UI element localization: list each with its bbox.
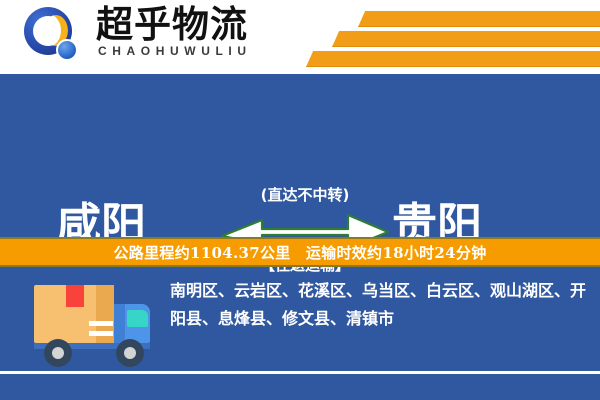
stripe-middle [332, 30, 600, 47]
stripe-top [358, 10, 600, 27]
truck-front-wheel-shape [116, 339, 144, 367]
distance-duration-bar: 公路里程约1104.37公里 运输时效约18小时24分钟 [0, 237, 600, 267]
truck-window-shape [127, 310, 148, 327]
direct-shipping-note: (直达不中转) [210, 184, 400, 205]
company-logo-icon [22, 7, 82, 65]
stripe-bottom [306, 50, 600, 67]
truck-rear-hub-shape [52, 347, 64, 359]
header: 超乎物流 CHAOHUWULIU [0, 0, 600, 74]
logo-dot-shape [56, 39, 78, 61]
brand-name-chinese: 超乎物流 [96, 6, 248, 44]
truck-cab-shade-shape [114, 304, 125, 343]
logistics-route-banner: 超乎物流 CHAOHUWULIU 咸阳 (直达不中转) 【往返运输】 贵阳 公路… [0, 0, 600, 400]
coverage-districts-text: 南明区、云岩区、花溪区、乌当区、白云区、观山湖区、开阳县、息烽县、修文县、清镇市 [170, 277, 588, 333]
truck-label-line-2-shape [89, 331, 113, 336]
truck-front-hub-shape [124, 347, 136, 359]
distance-duration-text: 公路里程约1104.37公里 运输时效约18小时24分钟 [114, 242, 487, 263]
delivery-truck-icon [34, 281, 164, 369]
orange-speed-stripes-icon [290, 4, 600, 70]
route-section: 咸阳 (直达不中转) 【往返运输】 贵阳 [0, 74, 600, 237]
truck-label-line-1-shape [89, 321, 113, 326]
brand-name-pinyin: CHAOHUWULIU [98, 44, 252, 58]
truck-rear-wheel-shape [44, 339, 72, 367]
truck-red-tab-shape [66, 285, 84, 307]
footer-bar [0, 374, 600, 400]
coverage-section: 南明区、云岩区、花溪区、乌当区、白云区、观山湖区、开阳县、息烽县、修文县、清镇市 [0, 269, 600, 372]
